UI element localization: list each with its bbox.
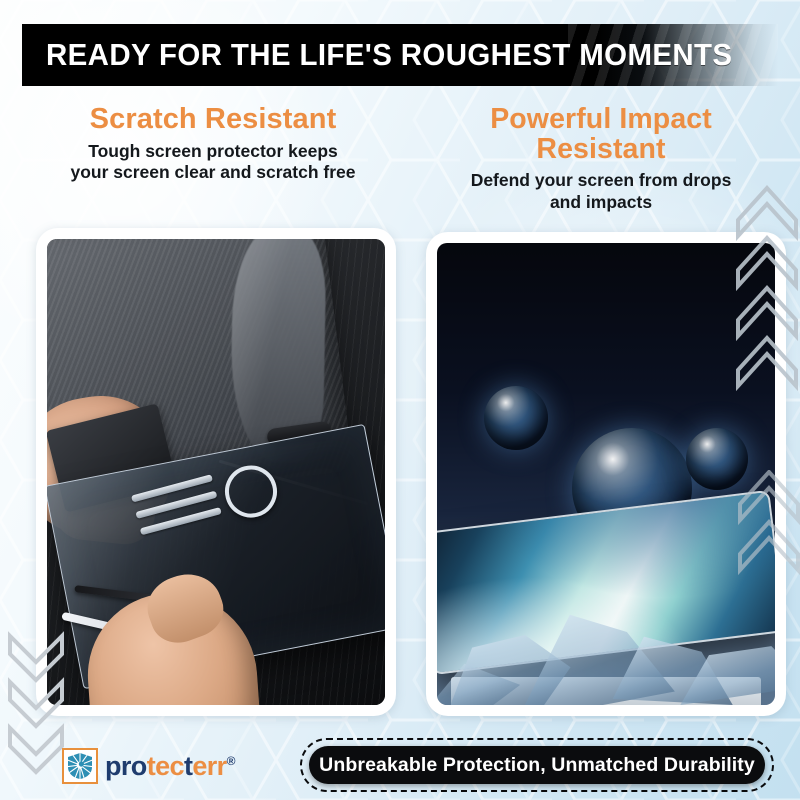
feature-heading-scratch: Scratch Resistant [26, 104, 400, 135]
tagline-container: Unbreakable Protection, Unmatched Durabi… [300, 738, 774, 792]
brand-word-part4: err [192, 751, 226, 781]
feature-column-scratch: Scratch Resistant Tough screen protector… [26, 104, 400, 183]
feature-heading-line1: Powerful Impact [414, 104, 788, 134]
product-feature-poster: READY FOR THE LIFE'S ROUGHEST MOMENTS Sc… [0, 0, 800, 800]
brand-word-part2: tec [147, 751, 184, 781]
feature-subtitle-line1: Defend your screen from drops [420, 170, 782, 191]
tagline-pill: Unbreakable Protection, Unmatched Durabi… [309, 746, 765, 784]
feature-image-card-scratch [36, 228, 396, 716]
header-banner: READY FOR THE LIFE'S ROUGHEST MOMENTS [22, 24, 778, 86]
shattered-glass-shards [437, 548, 775, 705]
banner-title: READY FOR THE LIFE'S ROUGHEST MOMENTS [46, 24, 732, 86]
shield-sunburst-icon [62, 748, 98, 784]
registered-trademark-icon: ® [227, 754, 235, 768]
feature-heading-impact: Powerful Impact Resistant [414, 104, 788, 164]
feature-heading-line2: Resistant [414, 134, 788, 164]
feature-image-card-impact [426, 232, 786, 716]
chevron-up-icon-group-lower [736, 470, 800, 620]
impact-sphere-left [484, 386, 548, 450]
feature-subtitle-line2: your screen clear and scratch free [32, 162, 394, 183]
brand-wordmark: protecterr® [105, 753, 235, 780]
feature-subtitle-line1: Tough screen protector keeps [32, 141, 394, 162]
brand-word-part1: pro [105, 751, 147, 781]
feature-column-impact: Powerful Impact Resistant Defend your sc… [414, 104, 788, 213]
feature-subtitle-line2: and impacts [420, 192, 782, 213]
brand-logo: protecterr® [62, 748, 235, 784]
feature-subtitle-scratch: Tough screen protector keeps your screen… [26, 141, 400, 184]
feature-subtitle-impact: Defend your screen from drops and impact… [414, 170, 788, 213]
feature-photo-impact [437, 243, 775, 705]
chevron-down-icon-group [4, 628, 68, 778]
feature-photo-scratch [47, 239, 385, 705]
chevron-up-icon-group [734, 176, 800, 476]
